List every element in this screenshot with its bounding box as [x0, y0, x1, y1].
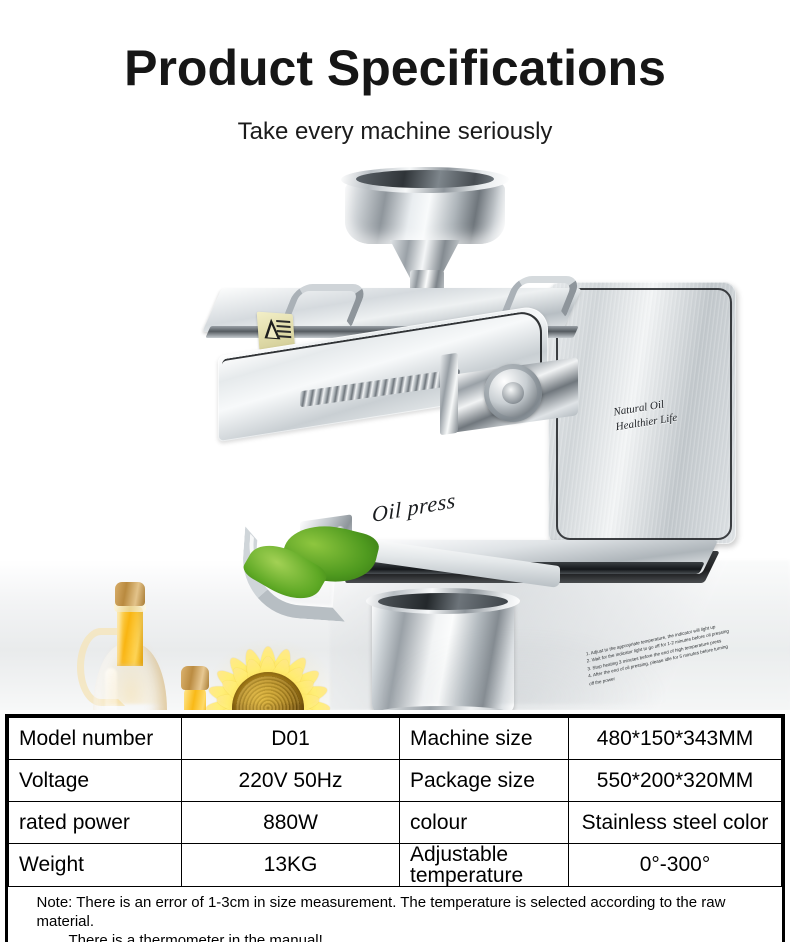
note-line-2: There is a thermometer in the manual! [9, 931, 782, 942]
small-bottle-neck [184, 688, 206, 710]
page-header: Product Specifications Take every machin… [0, 0, 790, 170]
spec-value-machine-size: 480*150*343MM [569, 718, 782, 760]
spec-label-rated-power: rated power [9, 802, 182, 844]
spec-value-weight: 13KG [182, 844, 400, 887]
bucket-opening [378, 593, 508, 610]
page-title: Product Specifications [0, 38, 790, 98]
warning-text-lines [276, 320, 291, 341]
product-photo: Natural Oil Healthier Life 1. Adjust to … [0, 158, 790, 710]
spec-value-voltage: 220V 50Hz [182, 760, 400, 802]
product-specification-page: Product Specifications Take every machin… [0, 0, 790, 942]
table-note-cell: Note: There is an error of 1-3cm in size… [9, 887, 782, 942]
table-row: Weight 13KG Adjustable temperature 0°-30… [9, 844, 782, 887]
bottle-cork [115, 582, 145, 606]
spec-label-colour: colour [400, 802, 569, 844]
spec-label-model-number: Model number [9, 718, 182, 760]
page-subtitle: Take every machine seriously [0, 117, 790, 147]
note-line-1: Note: There is an error of 1-3cm in size… [9, 893, 782, 931]
spec-value-adjustable-temperature: 0°-300° [569, 844, 782, 887]
table-note-row: Note: There is an error of 1-3cm in size… [9, 887, 782, 942]
spec-label-weight: Weight [9, 844, 182, 887]
spec-label-machine-size: Machine size [400, 718, 569, 760]
specification-table: Model number D01 Machine size 480*150*34… [8, 717, 782, 942]
table-row: Voltage 220V 50Hz Package size 550*200*3… [9, 760, 782, 802]
spec-value-rated-power: 880W [182, 802, 400, 844]
spec-label-voltage: Voltage [9, 760, 182, 802]
spec-label-adjustable-temperature: Adjustable temperature [400, 844, 569, 887]
bottle-reflection [96, 634, 166, 704]
table-row: rated power 880W colour Stainless steel … [9, 802, 782, 844]
hopper-opening [356, 170, 494, 188]
sunflower-reflection [206, 638, 336, 704]
table-row: Model number D01 Machine size 480*150*34… [9, 718, 782, 760]
spec-label-package-size: Package size [400, 760, 569, 802]
spec-value-package-size: 550*200*320MM [569, 760, 782, 802]
spec-value-colour: Stainless steel color [569, 802, 782, 844]
specification-table-container: Model number D01 Machine size 480*150*34… [5, 714, 785, 942]
chamber-flange [440, 353, 458, 436]
spec-value-model-number: D01 [182, 718, 400, 760]
brand-front-label: Oil press [372, 474, 532, 528]
machine-reflection [372, 624, 672, 704]
press-gear-wheel [484, 364, 542, 422]
small-bottle-cork [181, 666, 209, 690]
